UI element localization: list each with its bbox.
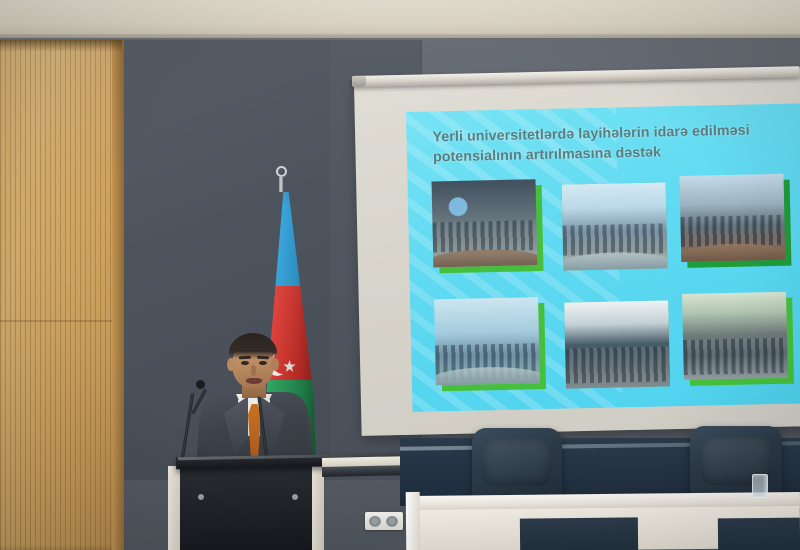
slide-photo-grid xyxy=(432,174,793,400)
speaker-nose xyxy=(251,365,256,376)
slide-photo-5 xyxy=(558,294,670,388)
slide-photo-3 xyxy=(679,174,791,268)
table-front-panel-1 xyxy=(520,517,638,550)
podium-screw-right xyxy=(292,494,298,500)
speaker-eye-right xyxy=(259,361,267,365)
presentation-slide: Yerli universitetlərdə layihələrin idarə… xyxy=(406,103,800,412)
slide-photo-1 xyxy=(432,179,544,273)
speaker-eyebrow-right xyxy=(257,356,269,360)
finial-stem xyxy=(279,176,283,192)
podium-edge-right xyxy=(312,466,324,550)
wood-panel-seam xyxy=(0,320,122,322)
conference-table-left-edge xyxy=(406,492,421,550)
conference-chair-left xyxy=(472,428,562,504)
podium-screw-left xyxy=(198,494,204,500)
photo-image xyxy=(434,297,540,385)
slide-photo-2 xyxy=(555,176,667,270)
slide-title: Yerli universitetlərdə layihələrin idarə… xyxy=(432,120,763,168)
speaker-eye-left xyxy=(241,361,249,365)
wood-panel-right-edge xyxy=(112,40,124,550)
flag-finial-icon xyxy=(274,166,289,192)
photo-image xyxy=(562,182,668,270)
photo-crowd xyxy=(565,347,670,384)
water-glass xyxy=(752,474,768,498)
speaker-ear-right xyxy=(271,358,279,371)
speaker-person xyxy=(196,330,316,470)
podium-body xyxy=(178,466,314,550)
power-outlet xyxy=(365,512,403,530)
ceiling xyxy=(0,0,800,38)
outlet-socket-left xyxy=(369,516,381,527)
photo-crowd xyxy=(563,224,668,255)
projection-screen-roller-cap xyxy=(352,76,366,87)
photo-image xyxy=(432,179,538,267)
photo-crowd xyxy=(432,220,537,251)
microphone-head-icon xyxy=(196,380,205,389)
speaker-mouth xyxy=(246,378,262,384)
speaker-ear-left xyxy=(227,358,235,371)
photo-crowd xyxy=(683,338,788,375)
photo-image xyxy=(682,292,788,380)
conference-hall-photo: Yerli universitetlərdə layihələrin idarə… xyxy=(0,0,800,550)
photo-crowd xyxy=(680,215,785,246)
wood-panel-top-shadow xyxy=(0,40,122,52)
slide-photo-4 xyxy=(434,297,546,391)
photo-image xyxy=(564,300,670,388)
speaker-hair xyxy=(229,333,277,359)
podium-edge-left xyxy=(168,466,180,550)
wood-slat-wall-panel xyxy=(0,40,122,550)
slide-photo-6 xyxy=(682,292,794,386)
table-front-panel-2 xyxy=(718,518,800,550)
photo-image xyxy=(679,174,785,262)
speaker-eyebrow-left xyxy=(239,356,251,360)
outlet-socket-right xyxy=(386,516,398,527)
